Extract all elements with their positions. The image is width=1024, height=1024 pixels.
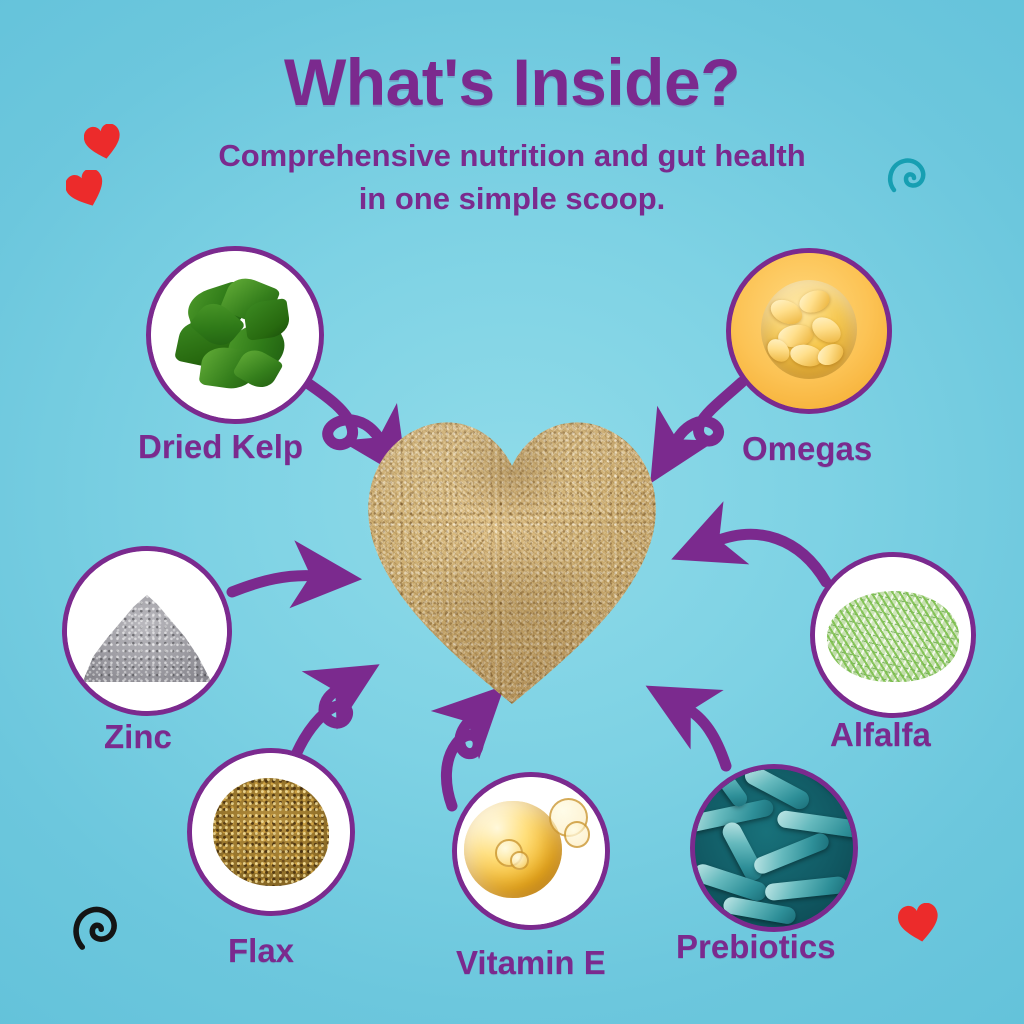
center-heart-powder (362, 418, 662, 704)
ingredient-label-vitamin-e: Vitamin E (456, 944, 606, 982)
alfalfa-image[interactable] (810, 552, 976, 718)
ingredient-label-flax: Flax (228, 932, 294, 970)
ingredient-label-alfalfa: Alfalfa (830, 716, 931, 754)
arrow-prebiotics-to-center (686, 708, 726, 766)
dried-kelp-image[interactable] (146, 246, 324, 424)
ingredient-infographic-poster: What's Inside? Comprehensive nutrition a… (0, 0, 1024, 1024)
prebiotics-image[interactable] (690, 764, 858, 932)
arrow-alfalfa-to-center (714, 534, 826, 582)
flax-image[interactable] (187, 748, 355, 916)
flax-seed-pile (213, 778, 330, 885)
zinc-powder-pile (80, 583, 214, 682)
vitamin-e-image[interactable] (452, 772, 610, 930)
vitamin-e-art (457, 777, 605, 925)
oil-bubble (510, 851, 529, 870)
prebiotics-art (695, 769, 853, 927)
heart-powder-shading (362, 418, 662, 704)
omega-art (731, 253, 887, 409)
ingredient-label-omegas: Omegas (742, 430, 872, 468)
omega-jar (761, 280, 858, 380)
omegas-image[interactable] (726, 248, 892, 414)
oil-bubble (564, 821, 590, 847)
ingredient-label-dried-kelp: Dried Kelp (138, 428, 303, 466)
zinc-image[interactable] (62, 546, 232, 716)
flax-art (192, 753, 350, 911)
kelp-art (151, 251, 319, 419)
ingredient-label-zinc: Zinc (104, 718, 172, 756)
ingredient-label-prebiotics: Prebiotics (676, 928, 836, 966)
arrow-zinc-to-center (232, 576, 316, 592)
alfalfa-sprouts (827, 591, 958, 681)
zinc-art (67, 551, 227, 711)
alfalfa-art (815, 557, 971, 713)
